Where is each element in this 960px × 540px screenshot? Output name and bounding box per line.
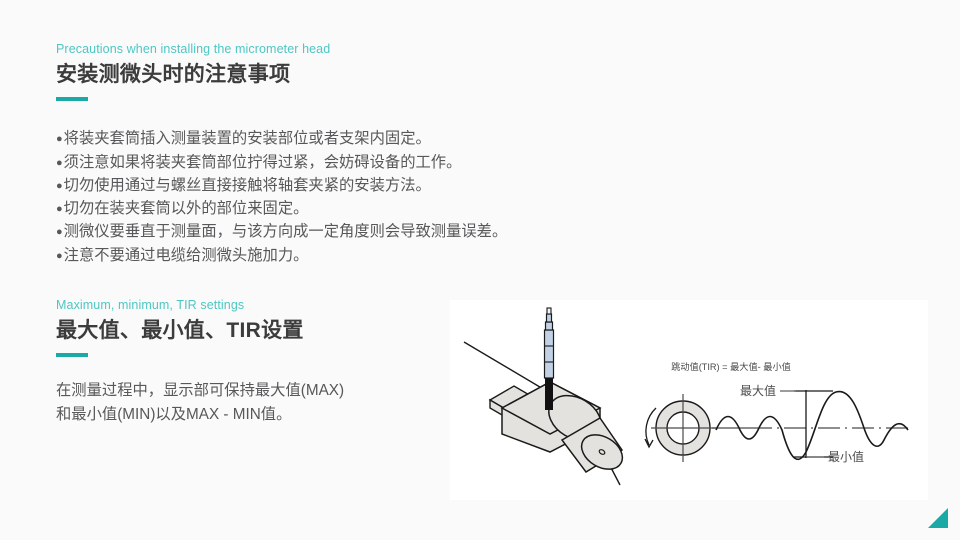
list-item: ● 切勿使用通过与螺丝直接接触将轴套夹紧的安装方法。	[56, 174, 696, 197]
list-item-label: 切勿在装夹套筒以外的部位来固定。	[64, 197, 309, 220]
section-eyebrow: Precautions when installing the micromet…	[56, 42, 696, 57]
list-item: ● 注意不要通过电缆给测微头施加力。	[56, 244, 696, 267]
tir-formula-label: 跳动值(TIR) = 最大值- 最小值	[671, 361, 791, 372]
waveform-min-label: 最小值	[828, 449, 864, 464]
section-eyebrow: Maximum, minimum, TIR settings	[56, 298, 436, 313]
corner-triangle-accent	[928, 508, 948, 528]
body-line: 在测量过程中，显示部可保持最大值(MAX)	[56, 379, 436, 403]
section-precautions: Precautions when installing the micromet…	[56, 42, 696, 267]
list-item-label: 注意不要通过电缆给测微头施加力。	[64, 244, 309, 267]
bullet-dot-icon: ●	[56, 227, 63, 238]
section-tir-settings: Maximum, minimum, TIR settings 最大值、最小值、T…	[56, 298, 436, 427]
bullet-dot-icon: ●	[56, 181, 63, 192]
list-item: ● 切勿在装夹套筒以外的部位来固定。	[56, 197, 696, 220]
runout-waveform-icon: 最大值 最小值	[712, 383, 912, 464]
concentric-circle-target-icon	[651, 394, 716, 462]
bullet-dot-icon: ●	[56, 158, 63, 169]
micrometer-probe-icon	[545, 308, 554, 410]
section-body: 在测量过程中，显示部可保持最大值(MAX) 和最小值(MIN)以及MAX - M…	[56, 379, 436, 426]
bullet-dot-icon: ●	[56, 204, 63, 215]
accent-rule	[56, 97, 88, 101]
body-line: 和最小值(MIN)以及MAX - MIN值。	[56, 403, 436, 427]
list-item-label: 测微仪要垂直于测量面，与该方向成一定角度则会导致测量误差。	[64, 220, 508, 243]
list-item: ● 须注意如果将装夹套筒部位拧得过紧，会妨碍设备的工作。	[56, 151, 696, 174]
waveform-max-label: 最大值	[740, 383, 776, 398]
list-item-label: 须注意如果将装夹套筒部位拧得过紧，会妨碍设备的工作。	[64, 151, 462, 174]
precautions-list: ● 将装夹套筒插入测量装置的安装部位或者支架内固定。 ● 须注意如果将装夹套筒部…	[56, 127, 696, 267]
figure-illustration: 跳动值(TIR) = 最大值- 最小值 最大	[450, 300, 928, 500]
list-item: ● 测微仪要垂直于测量面，与该方向成一定角度则会导致测量误差。	[56, 220, 696, 243]
figure-panel: 跳动值(TIR) = 最大值- 最小值 最大	[450, 300, 928, 500]
accent-rule	[56, 353, 88, 357]
list-item: ● 将装夹套筒插入测量装置的安装部位或者支架内固定。	[56, 127, 696, 150]
list-item-label: 将装夹套筒插入测量装置的安装部位或者支架内固定。	[64, 127, 431, 150]
section-title: 最大值、最小值、TIR设置	[56, 318, 436, 344]
list-item-label: 切勿使用通过与螺丝直接接触将轴套夹紧的安装方法。	[64, 174, 431, 197]
bullet-dot-icon: ●	[56, 251, 63, 262]
bullet-dot-icon: ●	[56, 134, 63, 145]
page-title: 安装测微头时的注意事项	[56, 62, 696, 88]
